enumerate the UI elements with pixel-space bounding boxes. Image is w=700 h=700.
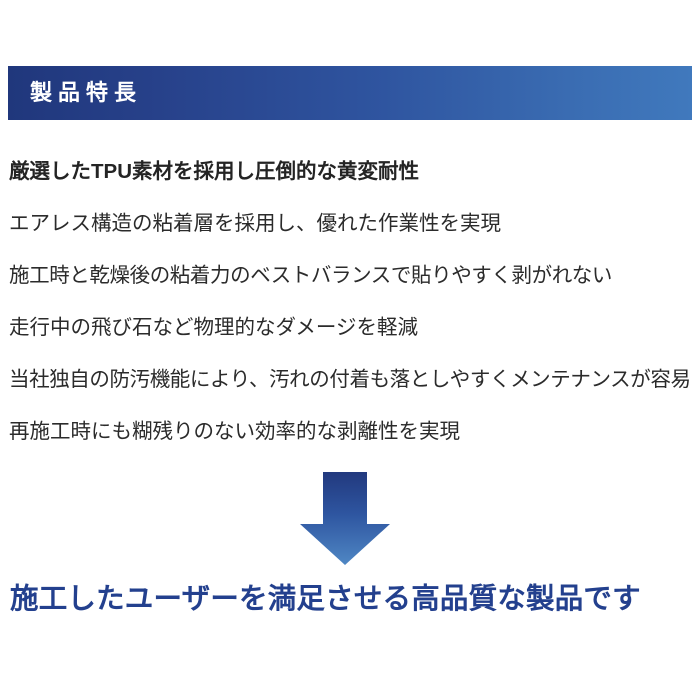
arrow-down-icon: [299, 472, 391, 566]
feature-list: 厳選したTPU素材を採用し圧倒的な黄変耐性 エアレス構造の粘着層を採用し、優れた…: [9, 146, 699, 458]
feature-item: 走行中の飛び石など物理的なダメージを軽減: [9, 302, 699, 354]
conclusion-headline: 施工したユーザーを満足させる高品質な製品です: [10, 582, 700, 618]
feature-item: 再施工時にも糊残りのない効率的な剥離性を実現: [9, 406, 699, 458]
feature-item: エアレス構造の粘着層を採用し、優れた作業性を実現: [9, 198, 699, 250]
feature-item: 施工時と乾燥後の粘着力のベストバランスで貼りやすく剥がれない: [9, 250, 699, 302]
feature-item: 当社独自の防汚機能により、汚れの付着も落としやすくメンテナンスが容易: [9, 354, 699, 406]
feature-item: 厳選したTPU素材を採用し圧倒的な黄変耐性: [9, 146, 699, 198]
page-title: 製品特長: [30, 82, 142, 104]
product-features-page: 製品特長 厳選したTPU素材を採用し圧倒的な黄変耐性 エアレス構造の粘着層を採用…: [0, 0, 700, 700]
section-header-banner: 製品特長: [8, 66, 692, 120]
